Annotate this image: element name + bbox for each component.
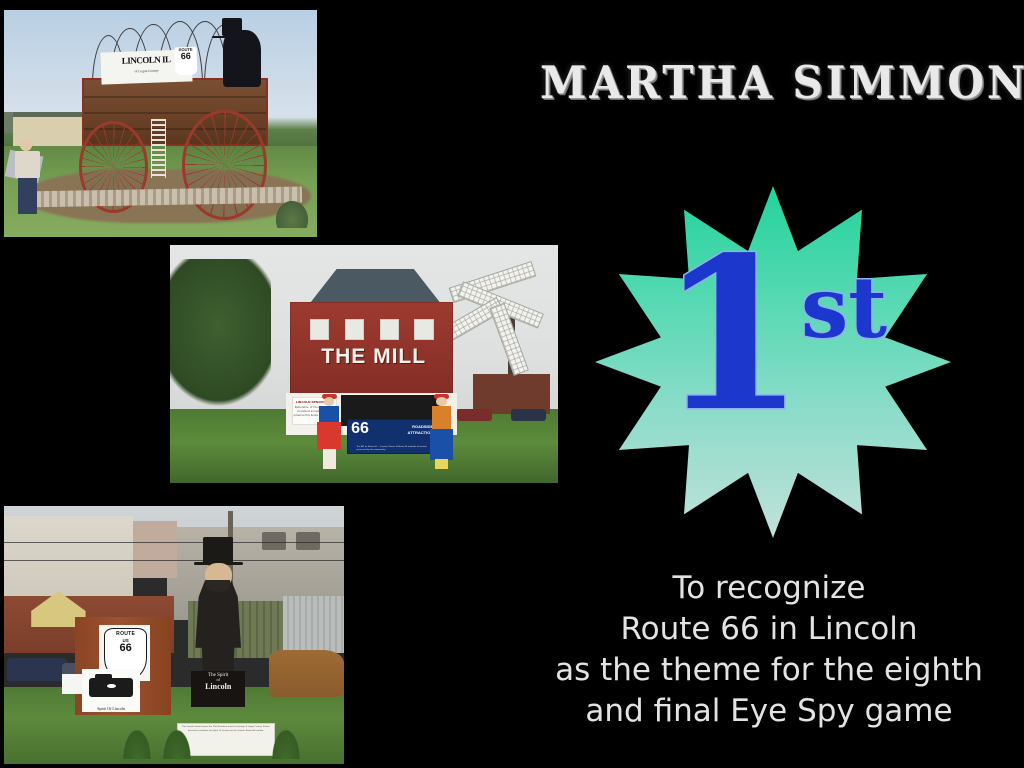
power-line-2 <box>4 560 344 561</box>
route-66-shield-number: 66 <box>174 52 196 62</box>
visitor-torso <box>15 151 40 178</box>
tree <box>170 259 271 407</box>
person-jacket <box>432 406 452 430</box>
sign-fineprint: The Mill on Route 66 — Lincoln, Illinois… <box>356 446 436 452</box>
camera-icon <box>89 678 133 696</box>
badge-rank-text: 1st <box>595 230 951 440</box>
small-camera-logo <box>62 674 82 695</box>
first-place-badge: 1st <box>595 186 951 538</box>
plate-line-3: Lincoln <box>191 683 245 691</box>
route-66-shield-icon: ROUTE 66 <box>174 47 197 76</box>
parked-car-1 <box>457 409 492 421</box>
mill-building-name: THE MILL <box>298 346 449 367</box>
bush <box>276 201 307 228</box>
award-slide: LINCOLN IL of Logan County ROUTE 66 <box>0 0 1024 768</box>
visitor-legs <box>18 176 37 215</box>
award-caption: To recognize Route 66 in Lincoln as the … <box>514 568 1024 732</box>
ladder <box>151 119 166 178</box>
mill-window <box>414 319 433 340</box>
spirit-of-lincoln-camera-sign: Spirit Of Lincoln <box>82 669 140 713</box>
badge-rank-suffix: st <box>801 258 887 357</box>
mill-window <box>380 319 399 340</box>
badge-rank-number: 1 <box>659 211 801 458</box>
visitor-head <box>20 139 33 150</box>
mill-window <box>310 319 329 340</box>
cow-statue <box>269 650 344 696</box>
photo-lincoln-covered-wagon: LINCOLN IL of Logan County ROUTE 66 <box>4 10 317 237</box>
spirit-of-lincoln-plate: The Spirit of Lincoln <box>191 671 245 707</box>
mill-window <box>345 319 364 340</box>
photo-mill-scene: THE MILL LINCOLN RENOVATION Restoration … <box>170 245 558 483</box>
costumed-person-left <box>317 397 340 468</box>
transformer-2 <box>296 532 320 550</box>
wagon-plank <box>84 96 266 98</box>
person-shoes <box>435 459 448 469</box>
person-head <box>324 397 334 406</box>
caption-line-2: Route 66 in Lincoln <box>514 609 1024 650</box>
lincoln-top-hat <box>203 537 234 563</box>
caption-line-4: and final Eye Spy game <box>514 691 1024 732</box>
shield-top-text: ROUTE <box>105 631 146 637</box>
photo-spirit-of-lincoln: ROUTE US 66 Spirit Of Lincoln The Spirit… <box>4 506 344 764</box>
sign-number: 66 <box>351 421 369 437</box>
grass-tuft-1 <box>120 723 154 759</box>
person-skirt <box>317 422 340 451</box>
page-title: MARTHA SIMMONS <box>540 57 1010 109</box>
information-board-text: This Lincoln statue honors the 16th Pres… <box>181 726 270 734</box>
person-legs <box>323 449 336 469</box>
person-head <box>436 397 446 406</box>
parked-car-2 <box>511 409 546 421</box>
transformer-1 <box>262 532 286 550</box>
camera-sign-caption: Spirit Of Lincoln <box>82 706 140 711</box>
roadside-attraction-sign: 66 ROADSIDE ATTRACTION The Mill on Route… <box>347 419 438 454</box>
shield-number: 66 <box>105 643 146 654</box>
photo-spirit-scene: ROUTE US 66 Spirit Of Lincoln The Spirit… <box>4 506 344 764</box>
photo-the-mill: THE MILL LINCOLN RENOVATION Restoration … <box>170 245 558 483</box>
brick-building <box>473 374 551 414</box>
photo-wagon-scene: LINCOLN IL of Logan County ROUTE 66 <box>4 10 317 237</box>
parked-car <box>7 658 68 681</box>
metal-siding-building <box>283 596 344 653</box>
person-trousers <box>430 429 453 460</box>
caption-line-1: To recognize <box>514 568 1024 609</box>
camera-icon-lens <box>107 684 116 688</box>
grass-tuft-3 <box>269 723 303 759</box>
power-line-1 <box>4 542 344 543</box>
grass-tuft-2 <box>160 723 194 759</box>
caption-line-3: as the theme for the eighth <box>514 650 1024 691</box>
lincoln-statue <box>223 30 261 87</box>
costumed-person-right <box>430 397 453 468</box>
